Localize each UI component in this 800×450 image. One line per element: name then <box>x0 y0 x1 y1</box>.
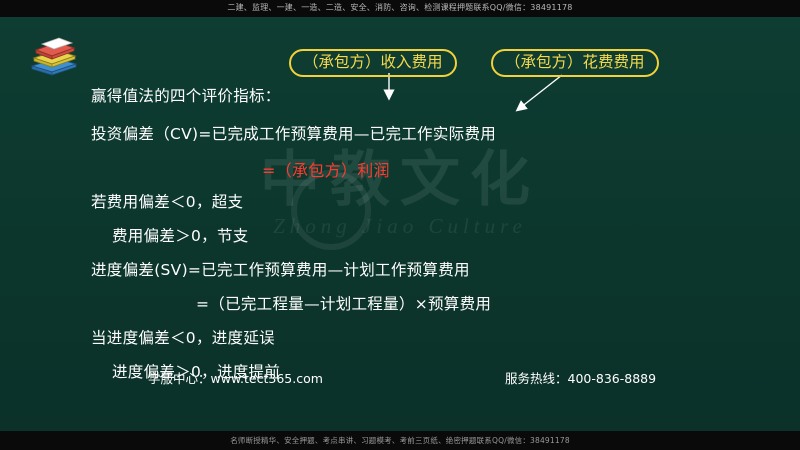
bottom-banner-strip: 名师断授精华、安全押题、考点串讲、习题模考、考前三页纸、绝密押题联系QQ/微信：… <box>0 431 800 450</box>
body-line-3-profit: =（承包方）利润 <box>262 157 390 181</box>
body-line-6: 进度偏差(SV)=已完工作预算费用—计划工作预算费用 <box>91 258 470 280</box>
footer-row: 学服中心：www.tect365.com 服务热线：400-836-8889 <box>0 368 800 388</box>
callout-income: （承包方）收入费用 <box>289 49 457 77</box>
body-line-1: 赢得值法的四个评价指标： <box>91 84 281 106</box>
footer-hotline: 服务热线：400-836-8889 <box>505 368 656 387</box>
body-line-5: 费用偏差＞0，节支 <box>112 224 249 246</box>
callout-expense: （承包方）花费费用 <box>491 49 659 77</box>
slide-root: 二建、监理、一建、一造、二造、安全、消防、咨询、检测课程押题联系QQ/微信：38… <box>0 0 800 450</box>
footer-service-center: 学服中心：www.tect365.com <box>148 368 323 387</box>
body-line-4: 若费用偏差＜0，超支 <box>91 190 243 212</box>
slide-content: （承包方）收入费用 （承包方）花费费用 赢得值法的四个评价指标： 投资偏差（CV… <box>0 0 800 414</box>
body-line-2: 投资偏差（CV)=已完成工作预算费用—已完工作实际费用 <box>91 122 496 144</box>
body-line-8: 当进度偏差＜0，进度延误 <box>91 326 275 348</box>
body-line-7: =（已完工程量—计划工程量）×预算费用 <box>196 292 491 314</box>
bottom-banner-text: 名师断授精华、安全押题、考点串讲、习题模考、考前三页纸、绝密押题联系QQ/微信：… <box>0 435 800 446</box>
